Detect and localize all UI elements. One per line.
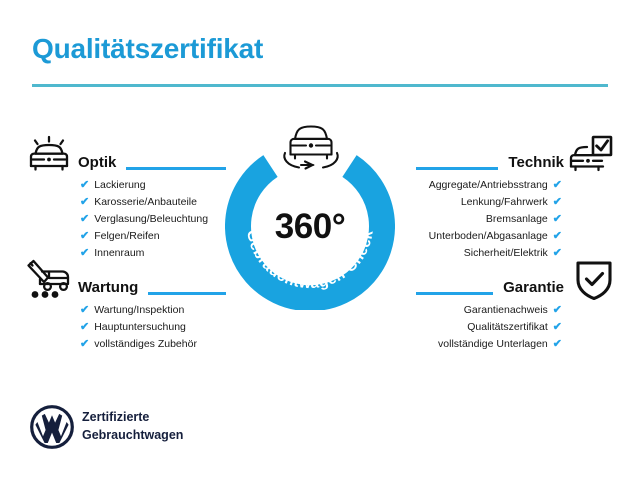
list-item-label: Verglasung/Beleuchtung xyxy=(94,211,208,228)
list-item-label: Unterboden/Abgasanlage xyxy=(429,228,548,245)
list-item: ✔ Karosserie/Anbauteile xyxy=(80,194,226,211)
section-title: Garantie xyxy=(503,280,564,295)
section-checklist: Aggregate/Antriebsstrang ✔ Lenkung/Fahrw… xyxy=(416,177,564,262)
check-icon: ✔ xyxy=(80,197,89,208)
section-divider xyxy=(126,167,226,170)
list-item-label: Innenraum xyxy=(94,245,144,262)
title-divider xyxy=(32,84,608,87)
list-item: Bremsanlage ✔ xyxy=(416,211,562,228)
check-icon: ✔ xyxy=(80,248,89,259)
check-icon: ✔ xyxy=(553,248,562,259)
list-item: ✔ Innenraum xyxy=(80,245,226,262)
list-item-label: Lenkung/Fahrwerk xyxy=(461,194,548,211)
car-rotate-icon xyxy=(279,120,343,172)
list-item: ✔ vollständiges Zubehör xyxy=(80,336,226,353)
check-icon: ✔ xyxy=(553,322,562,333)
list-item-label: Lackierung xyxy=(94,177,145,194)
car-shine-icon xyxy=(24,132,74,176)
list-item: Unterboden/Abgasanlage ✔ xyxy=(416,228,562,245)
section-checklist: ✔ Lackierung ✔ Karosserie/Anbauteile ✔ V… xyxy=(78,177,226,262)
list-item: Sicherheit/Elektrik ✔ xyxy=(416,245,562,262)
section-technik: Technik Aggregate/Antriebsstrang ✔ Lenku… xyxy=(416,140,564,262)
check-icon: ✔ xyxy=(553,180,562,191)
list-item-label: vollständige Unterlagen xyxy=(438,336,548,353)
section-optik: Optik ✔ Lackierung ✔ Karosserie/Anbautei… xyxy=(78,140,226,262)
section-title: Technik xyxy=(508,155,564,170)
list-item-label: Aggregate/Antriebsstrang xyxy=(429,177,548,194)
list-item-label: Bremsanlage xyxy=(486,211,548,228)
check-icon: ✔ xyxy=(553,339,562,350)
section-wartung: Wartung ✔ Wartung/Inspektion ✔ Hauptunte… xyxy=(78,265,226,353)
section-header: Optik xyxy=(78,140,226,170)
list-item: vollständige Unterlagen ✔ xyxy=(416,336,562,353)
list-item: ✔ Hauptuntersuchung xyxy=(80,319,226,336)
list-item-label: Hauptuntersuchung xyxy=(94,319,186,336)
section-header: Technik xyxy=(416,140,564,170)
check-icon: ✔ xyxy=(80,231,89,242)
list-item: ✔ Felgen/Reifen xyxy=(80,228,226,245)
section-header: Garantie xyxy=(416,265,564,295)
check-icon: ✔ xyxy=(80,180,89,191)
list-item: Qualitätszertifikat ✔ xyxy=(416,319,562,336)
shield-check-icon xyxy=(572,258,622,302)
car-checkbox-icon xyxy=(566,132,616,176)
section-checklist: ✔ Wartung/Inspektion ✔ Hauptuntersuchung… xyxy=(78,302,226,353)
section-divider xyxy=(416,167,498,170)
footer-lockup-text: Zertifizierte Gebrauchtwagen xyxy=(82,409,183,445)
section-header: Wartung xyxy=(78,265,226,295)
list-item-label: Sicherheit/Elektrik xyxy=(464,245,548,262)
section-checklist: Garantienachweis ✔ Qualitätszertifikat ✔… xyxy=(416,302,564,353)
list-item-label: Qualitätszertifikat xyxy=(467,319,548,336)
section-garantie: Garantie Garantienachweis ✔ Qualitätszer… xyxy=(416,265,564,353)
section-divider xyxy=(416,292,493,295)
section-divider xyxy=(148,292,226,295)
list-item: ✔ Lackierung xyxy=(80,177,226,194)
list-item: Aggregate/Antriebsstrang ✔ xyxy=(416,177,562,194)
car-service-wrench-icon xyxy=(24,257,74,301)
page-title: Qualitätszertifikat xyxy=(32,33,263,65)
vw-logo-icon xyxy=(30,405,74,449)
footer-line-1: Zertifizierte xyxy=(82,409,183,427)
check-icon: ✔ xyxy=(553,231,562,242)
list-item-label: vollständiges Zubehör xyxy=(94,336,197,353)
list-item: ✔ Verglasung/Beleuchtung xyxy=(80,211,226,228)
list-item: Lenkung/Fahrwerk ✔ xyxy=(416,194,562,211)
list-item: Garantienachweis ✔ xyxy=(416,302,562,319)
check-icon: ✔ xyxy=(553,305,562,316)
list-item-label: Karosserie/Anbauteile xyxy=(94,194,197,211)
section-title: Optik xyxy=(78,155,116,170)
check-icon: ✔ xyxy=(80,339,89,350)
check-icon: ✔ xyxy=(80,322,89,333)
list-item-label: Wartung/Inspektion xyxy=(94,302,184,319)
section-title: Wartung xyxy=(78,280,138,295)
check-icon: ✔ xyxy=(80,305,89,316)
check-icon: ✔ xyxy=(553,214,562,225)
check-icon: ✔ xyxy=(553,197,562,208)
list-item: ✔ Wartung/Inspektion xyxy=(80,302,226,319)
list-item-label: Garantienachweis xyxy=(464,302,548,319)
check-icon: ✔ xyxy=(80,214,89,225)
list-item-label: Felgen/Reifen xyxy=(94,228,159,245)
footer-line-2: Gebrauchtwagen xyxy=(82,427,183,445)
